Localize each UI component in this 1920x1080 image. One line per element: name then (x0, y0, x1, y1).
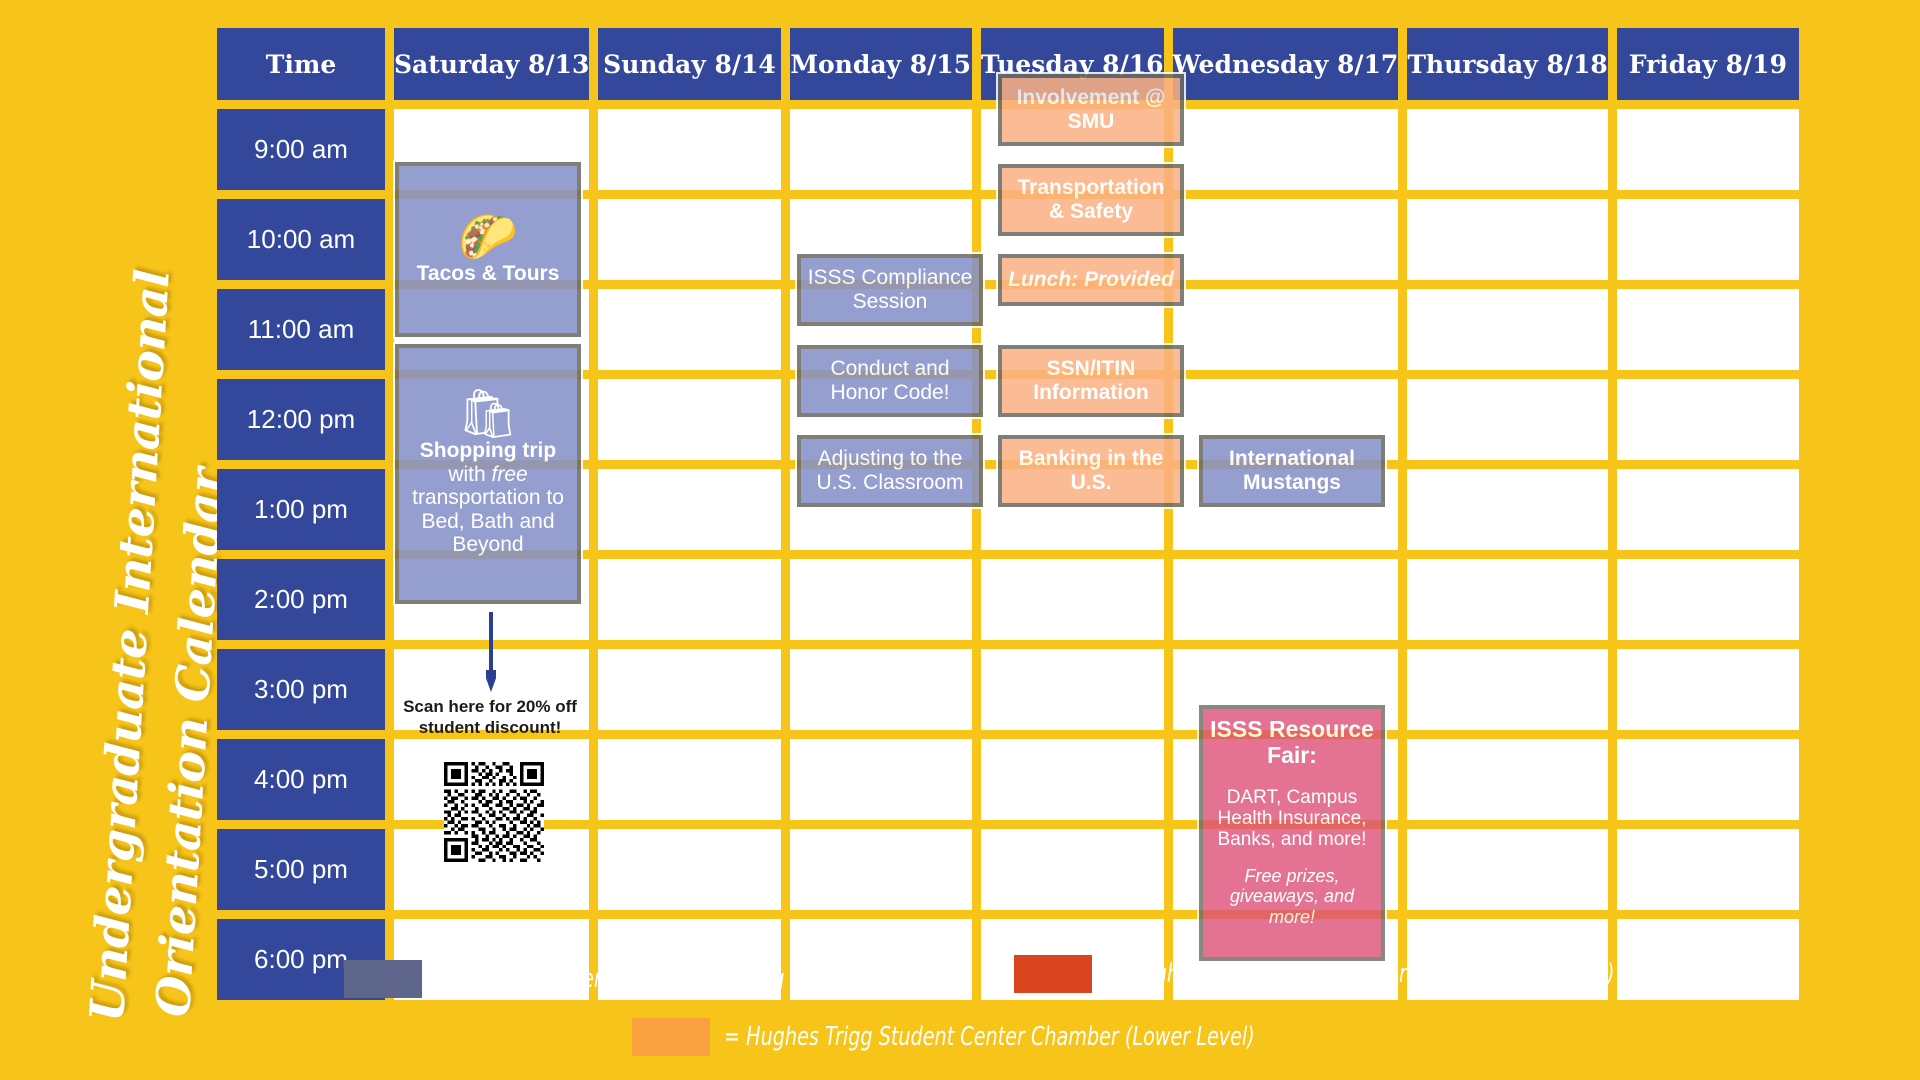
column-header-saturday: Saturday 8/13 (394, 28, 589, 100)
column-header-friday: Friday 8/19 (1617, 28, 1799, 100)
qr-caption-line-1: Scan here for 20% off (392, 696, 588, 717)
grid-cell[interactable] (598, 379, 780, 460)
event-title-line-2: Session (853, 290, 928, 314)
grid-cell[interactable] (981, 559, 1164, 640)
legend-swatch-red (1014, 955, 1092, 993)
qr-code-icon[interactable] (444, 762, 544, 862)
grid-cell[interactable] (1173, 289, 1399, 370)
event-shopping-trip[interactable]: 🛍 Shopping trip with free transportation… (395, 344, 581, 604)
grid-cell[interactable] (598, 649, 780, 730)
grid-cell[interactable] (1617, 559, 1799, 640)
time-label-0900: 9:00 am (217, 109, 385, 190)
grid-cell[interactable] (1617, 289, 1799, 370)
grid-cell[interactable] (790, 739, 972, 820)
event-subtitle-line-1: with free (448, 463, 527, 487)
event-title: Conduct and (830, 357, 949, 381)
event-adjusting-us-classroom[interactable]: Adjusting to the U.S. Classroom (797, 435, 983, 507)
column-header-sunday: Sunday 8/14 (598, 28, 780, 100)
column-header-thursday: Thursday 8/18 (1407, 28, 1607, 100)
event-title: Shopping trip (420, 439, 556, 463)
event-title-line-2: & Safety (1049, 200, 1133, 224)
event-title: ISSS Resource (1210, 717, 1374, 743)
event-title: Lunch: Provided (1008, 268, 1174, 292)
event-subtitle-prefix: with (448, 463, 491, 486)
event-involvement-smu[interactable]: Involvement @ SMU (998, 74, 1184, 146)
event-title: Adjusting to the (818, 447, 963, 471)
grid-cell[interactable] (1407, 559, 1607, 640)
grid-cell[interactable] (1407, 199, 1607, 280)
grid-cell[interactable] (790, 559, 972, 640)
event-title: Transportation (1017, 176, 1164, 200)
event-conduct-honor-code[interactable]: Conduct and Honor Code! (797, 345, 983, 417)
grid-cell[interactable] (1407, 739, 1607, 820)
event-subtitle-line-3: Bed, Bath and (421, 510, 554, 534)
time-label-1500: 3:00 pm (217, 649, 385, 730)
time-label-1600: 4:00 pm (217, 739, 385, 820)
grid-cell[interactable] (1407, 379, 1607, 460)
grid-cell[interactable] (1407, 829, 1607, 910)
grid-cell[interactable] (1617, 739, 1799, 820)
event-footer: Free prizes, giveaways, and more! (1203, 864, 1381, 928)
grid-cell[interactable] (790, 829, 972, 910)
qr-caption: Scan here for 20% off student discount! (392, 696, 588, 739)
column-header-wednesday: Wednesday 8/17 (1173, 28, 1399, 100)
grid-cell[interactable] (1407, 469, 1607, 550)
grid-cell[interactable] (598, 829, 780, 910)
event-title-line-2: Honor Code! (830, 381, 949, 405)
event-ssn-itin-information[interactable]: SSN/ITIN Information (998, 345, 1184, 417)
grid-cell[interactable] (1617, 469, 1799, 550)
event-title: ISSS Compliance (808, 266, 973, 290)
event-lunch-provided[interactable]: Lunch: Provided (998, 254, 1184, 306)
column-header-monday: Monday 8/15 (790, 28, 972, 100)
page-title: Undergraduate International Orientation … (0, 0, 200, 1080)
qr-caption-line-2: student discount! (392, 717, 588, 738)
grid-cell[interactable] (598, 289, 780, 370)
event-title-line-2: SMU (1068, 110, 1115, 134)
grid-cell[interactable] (1617, 379, 1799, 460)
event-title-line-2: U.S. Classroom (816, 471, 963, 495)
legend-item-varsity: = Hughes Trigg Student Center Varsity (L… (1014, 955, 1726, 993)
legend-item-blanton: = Blanton Student Services Building Room… (344, 960, 988, 998)
grid-cell[interactable] (1173, 559, 1399, 640)
arrow-down-icon (486, 612, 496, 694)
event-isss-compliance-session[interactable]: ISSS Compliance Session (797, 254, 983, 326)
grid-cell[interactable] (598, 199, 780, 280)
time-label-1700: 5:00 pm (217, 829, 385, 910)
grid-cell[interactable] (790, 109, 972, 190)
event-isss-resource-fair[interactable]: ISSS Resource Fair: DART, Campus Health … (1199, 705, 1385, 961)
legend-label: = Hughes Trigg Student Center Varsity (L… (1106, 959, 1614, 989)
event-international-mustangs[interactable]: International Mustangs (1199, 435, 1385, 507)
event-title-group: ISSS Resource Fair: (1204, 715, 1380, 771)
grid-cell[interactable] (1173, 109, 1399, 190)
time-label-1200: 12:00 pm (217, 379, 385, 460)
time-label-1100: 11:00 am (217, 289, 385, 370)
event-title-line-2: Mustangs (1243, 471, 1341, 495)
event-banking-in-the-us[interactable]: Banking in the U.S. (998, 435, 1184, 507)
grid-cell[interactable] (598, 109, 780, 190)
event-title: SSN/ITIN (1047, 357, 1136, 381)
event-subtitle-line-2: transportation to (412, 486, 564, 510)
grid-cell[interactable] (981, 829, 1164, 910)
time-label-1400: 2:00 pm (217, 559, 385, 640)
event-title: Involvement @ (1017, 86, 1166, 110)
shopping-bags-icon: 🛍 (458, 391, 519, 439)
grid-cell[interactable] (1407, 649, 1607, 730)
grid-cell[interactable] (1617, 109, 1799, 190)
grid-cell[interactable] (1407, 289, 1607, 370)
event-tacos-tours[interactable]: 🌮 Tacos & Tours (395, 162, 581, 337)
time-label-1300: 1:00 pm (217, 469, 385, 550)
taco-icon: 🌮 (458, 214, 518, 262)
grid-cell[interactable] (1617, 829, 1799, 910)
event-title: Banking in the (1019, 447, 1164, 471)
grid-cell[interactable] (981, 649, 1164, 730)
legend-swatch-blue (344, 960, 422, 998)
event-title: Tacos & Tours (417, 262, 560, 286)
grid-cell[interactable] (598, 469, 780, 550)
grid-cell[interactable] (981, 739, 1164, 820)
event-title: International (1229, 447, 1355, 471)
event-title-line-2: Information (1033, 381, 1149, 405)
grid-cell[interactable] (598, 559, 780, 640)
grid-cell[interactable] (1173, 199, 1399, 280)
grid-cell[interactable] (1407, 109, 1607, 190)
legend-swatch-orange (632, 1018, 710, 1056)
grid-cell[interactable] (598, 739, 780, 820)
event-subtitle-line-4: Beyond (452, 533, 523, 557)
time-label-1000: 10:00 am (217, 199, 385, 280)
event-title-line-2: Fair: (1210, 743, 1374, 769)
legend-label: = Hughes Trigg Student Center Chamber (L… (724, 1022, 1255, 1052)
event-subtitle-emphasis: free (492, 463, 528, 486)
event-detail: DART, Campus Health Insurance, Banks, an… (1203, 785, 1381, 853)
event-transportation-safety[interactable]: Transportation & Safety (998, 164, 1184, 236)
grid-cell[interactable] (1617, 199, 1799, 280)
legend-item-chamber: = Hughes Trigg Student Center Chamber (L… (632, 1018, 1371, 1056)
column-header-time: Time (217, 28, 385, 100)
grid-cell[interactable] (790, 649, 972, 730)
legend-label: = Blanton Student Services Building Room… (436, 964, 889, 994)
grid-cell[interactable] (1617, 649, 1799, 730)
event-title-line-2: U.S. (1071, 471, 1112, 495)
